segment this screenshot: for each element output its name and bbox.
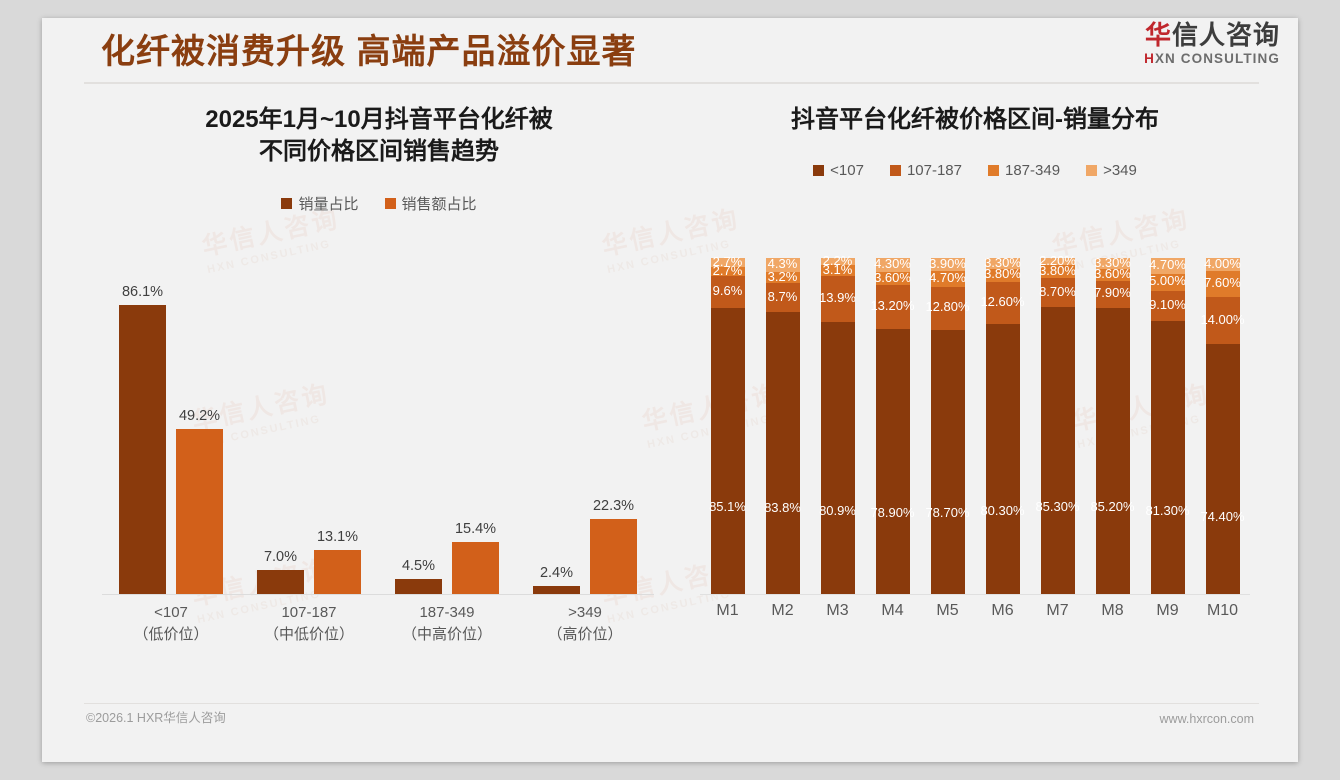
stacked-bar-segment[interactable]: 2.7% (711, 267, 745, 276)
bar-column: 4.30%3.60%13.20%78.90% (865, 258, 920, 594)
left-chart-x-labels: <107（低价位）107-187（中低价位）187-349（中高价位）>349（… (102, 602, 654, 646)
right-chart-panel: 抖音平台化纤被价格区间-销量分布 <107107-187187-349>349 … (690, 96, 1260, 666)
x-axis-label: M8 (1085, 602, 1140, 620)
bar-column: 3.90%4.70%12.80%78.70% (920, 258, 975, 594)
bar-value-label: 2.4% (540, 565, 573, 581)
bar-group: 86.1%49.2% (102, 258, 240, 594)
bar-group: 7.0%13.1% (240, 258, 378, 594)
segment-value-label: 5.00% (1149, 273, 1186, 288)
bar[interactable]: 22.3% (590, 519, 637, 594)
stacked-bar-segment[interactable]: 4.00% (1206, 258, 1240, 271)
left-chart-title: 2025年1月~10月抖音平台化纤被 不同价格区间销售趋势 (84, 96, 674, 167)
x-axis-label: M10 (1195, 602, 1250, 620)
bar-value-label: 7.0% (264, 549, 297, 565)
left-chart-legend: 销量占比销售额占比 (84, 193, 674, 214)
bar-column: 2.7%2.7%9.6%85.1% (700, 258, 755, 594)
x-axis-label: M5 (920, 602, 975, 620)
legend-item[interactable]: 107-187 (890, 162, 962, 179)
legend-label: 销量占比 (298, 193, 358, 214)
bar-column: 3.30%3.80%12.60%80.30% (975, 258, 1030, 594)
bar[interactable]: 4.5% (395, 579, 442, 594)
slide-root: 化纤被消费升级 高端产品溢价显著 华信人咨询 HXN CONSULTING 华信… (0, 0, 1340, 780)
bar-group: 4.5%15.4% (378, 258, 516, 594)
stacked-bar[interactable]: 3.30%3.60%7.90%85.20% (1096, 258, 1130, 594)
stacked-bar-segment[interactable]: 83.8% (766, 312, 800, 594)
segment-value-label: 80.30% (980, 503, 1024, 518)
bar-group: 2.4%22.3% (516, 258, 654, 594)
stacked-bar-segment[interactable]: 81.30% (1151, 321, 1185, 594)
footer-divider (84, 703, 1259, 704)
legend-item[interactable]: 销售额占比 (385, 193, 477, 214)
stacked-bar-segment[interactable]: 80.9% (821, 322, 855, 594)
legend-swatch-icon (385, 198, 396, 209)
legend-swatch-icon (1086, 165, 1097, 176)
right-chart-title: 抖音平台化纤被价格区间-销量分布 (690, 96, 1260, 136)
logo-chinese-red: 华 (1145, 20, 1172, 50)
logo-english: HXN CONSULTING (1144, 51, 1280, 66)
legend-item[interactable]: 销量占比 (281, 193, 358, 214)
x-axis-label: M9 (1140, 602, 1195, 620)
x-axis-label-main: 107-187 (240, 602, 378, 624)
x-axis-label: 107-187（中低价位） (240, 602, 378, 646)
segment-value-label: 78.70% (925, 505, 969, 520)
bar-column: 2.20%3.80%8.70%85.30% (1030, 258, 1085, 594)
bar[interactable]: 15.4% (452, 542, 499, 594)
logo-chinese-rest: 信人咨询 (1172, 20, 1280, 50)
stacked-bar-segment[interactable]: 14.00% (1206, 297, 1240, 344)
segment-value-label: 9.10% (1149, 297, 1186, 312)
x-axis-label-sub: （高价位） (516, 624, 654, 646)
company-logo: 华信人咨询 HXN CONSULTING (1144, 22, 1280, 66)
right-chart-axis-line (700, 594, 1250, 595)
x-axis-label: <107（低价位） (102, 602, 240, 646)
stacked-bar[interactable]: 3.30%3.80%12.60%80.30% (986, 258, 1020, 594)
legend-item[interactable]: <107 (813, 162, 864, 179)
legend-label: <107 (830, 162, 864, 179)
slide-card: 化纤被消费升级 高端产品溢价显著 华信人咨询 HXN CONSULTING 华信… (42, 18, 1298, 762)
x-axis-label: M4 (865, 602, 920, 620)
stacked-bar-segment[interactable]: 3.2% (766, 272, 800, 283)
legend-label: 销售额占比 (402, 193, 477, 214)
right-chart-bars: 2.7%2.7%9.6%85.1%4.3%3.2%8.7%83.8%2.2%3.… (700, 258, 1250, 594)
left-chart-title-line1: 2025年1月~10月抖音平台化纤被 (84, 104, 674, 136)
right-chart-legend: <107107-187187-349>349 (690, 162, 1260, 179)
segment-value-label: 7.60% (1204, 275, 1241, 290)
stacked-bar-segment[interactable]: 3.80% (986, 269, 1020, 282)
x-axis-label-main: >349 (516, 602, 654, 624)
x-axis-label-main: <107 (102, 602, 240, 624)
legend-swatch-icon (813, 165, 824, 176)
x-axis-label-sub: （中高价位） (378, 624, 516, 646)
stacked-bar-segment[interactable]: 78.70% (931, 330, 965, 594)
segment-value-label: 12.60% (980, 294, 1024, 309)
legend-swatch-icon (890, 165, 901, 176)
stacked-bar-segment[interactable]: 3.80% (1041, 265, 1075, 278)
segment-value-label: 14.00% (1200, 312, 1244, 327)
right-chart-x-labels: M1M2M3M4M5M6M7M8M9M10 (700, 602, 1250, 620)
logo-chinese: 华信人咨询 (1144, 22, 1280, 49)
page-title: 化纤被消费升级 高端产品溢价显著 (101, 24, 636, 73)
stacked-bar-segment[interactable]: 3.1% (821, 265, 855, 275)
segment-value-label: 12.80% (925, 299, 969, 314)
stacked-bar-segment[interactable]: 7.60% (1206, 271, 1240, 297)
slide-header: 化纤被消费升级 高端产品溢价显著 华信人咨询 HXN CONSULTING (42, 18, 1298, 90)
left-chart-title-line2: 不同价格区间销售趋势 (84, 136, 674, 168)
stacked-bar[interactable]: 2.20%3.80%8.70%85.30% (1041, 258, 1075, 594)
stacked-bar-segment[interactable]: 3.60% (876, 272, 910, 284)
segment-value-label: 85.20% (1090, 499, 1134, 514)
legend-item[interactable]: 187-349 (988, 162, 1060, 179)
stacked-bar-segment[interactable]: 12.80% (931, 287, 965, 330)
stacked-bar-segment[interactable]: 80.30% (986, 324, 1020, 594)
bar[interactable]: 86.1% (119, 305, 166, 594)
segment-value-label: 85.30% (1035, 499, 1079, 514)
stacked-bar-segment[interactable]: 9.6% (711, 276, 745, 308)
segment-value-label: 81.30% (1145, 503, 1189, 518)
stacked-bar[interactable]: 2.7%2.7%9.6%85.1% (711, 258, 745, 594)
stacked-bar[interactable]: 4.70%5.00%9.10%81.30% (1151, 258, 1185, 594)
bar-column: 3.30%3.60%7.90%85.20% (1085, 258, 1140, 594)
left-chart-panel: 2025年1月~10月抖音平台化纤被 不同价格区间销售趋势 销量占比销售额占比 … (84, 96, 674, 666)
segment-value-label: 85.1% (709, 499, 746, 514)
segment-value-label: 80.9% (819, 503, 856, 518)
x-axis-label-main: 187-349 (378, 602, 516, 624)
segment-value-label: 4.00% (1204, 256, 1241, 271)
bar[interactable]: 7.0% (257, 570, 304, 594)
stacked-bar-segment[interactable]: 8.7% (766, 283, 800, 312)
x-axis-label: M6 (975, 602, 1030, 620)
stacked-bar-segment[interactable]: 5.00% (1151, 274, 1185, 291)
segment-value-label: 8.7% (768, 289, 798, 304)
stacked-bar[interactable]: 4.00%7.60%14.00%74.40% (1206, 258, 1240, 594)
bar[interactable]: 13.1% (314, 550, 361, 594)
legend-label: >349 (1103, 162, 1137, 179)
segment-value-label: 3.2% (768, 269, 798, 284)
x-axis-label: M7 (1030, 602, 1085, 620)
segment-value-label: 13.9% (819, 290, 856, 305)
stacked-bar-segment[interactable]: 12.60% (986, 282, 1020, 324)
x-axis-label: M2 (755, 602, 810, 620)
stacked-bar-segment[interactable]: 13.20% (876, 285, 910, 329)
stacked-bar-segment[interactable]: 4.70% (1151, 258, 1185, 274)
stacked-bar-segment[interactable]: 8.70% (1041, 278, 1075, 307)
stacked-bar[interactable]: 4.30%3.60%13.20%78.90% (876, 258, 910, 594)
x-axis-label-sub: （中低价位） (240, 624, 378, 646)
segment-value-label: 83.8% (764, 500, 801, 515)
segment-value-label: 3.60% (1094, 266, 1131, 281)
stacked-bar-segment[interactable]: 3.60% (1096, 269, 1130, 281)
segment-value-label: 3.80% (984, 266, 1021, 281)
x-axis-label: M3 (810, 602, 865, 620)
bar-value-label: 13.1% (317, 529, 358, 545)
x-axis-label: M1 (700, 602, 755, 620)
bar-value-label: 86.1% (122, 284, 163, 300)
left-chart-axis-line (102, 594, 654, 595)
segment-value-label: 9.6% (713, 283, 743, 298)
bar-column: 4.3%3.2%8.7%83.8% (755, 258, 810, 594)
x-axis-label-sub: （低价位） (102, 624, 240, 646)
segment-value-label: 8.70% (1039, 284, 1076, 299)
x-axis-label: >349（高价位） (516, 602, 654, 646)
segment-value-label: 3.60% (874, 270, 911, 285)
segment-value-label: 4.70% (1149, 257, 1186, 272)
bar-value-label: 49.2% (179, 408, 220, 424)
segment-value-label: 3.90% (929, 256, 966, 271)
legend-swatch-icon (281, 198, 292, 209)
stacked-bar-segment[interactable]: 85.30% (1041, 307, 1075, 594)
stacked-bar-segment[interactable]: 13.9% (821, 276, 855, 323)
segment-value-label: 13.20% (870, 298, 914, 313)
bar-value-label: 22.3% (593, 498, 634, 514)
legend-label: 187-349 (1005, 162, 1060, 179)
segment-value-label: 3.80% (1039, 263, 1076, 278)
segment-value-label: 78.90% (870, 505, 914, 520)
bar-value-label: 15.4% (455, 521, 496, 537)
legend-swatch-icon (988, 165, 999, 176)
right-chart-plot-area: 2.7%2.7%9.6%85.1%4.3%3.2%8.7%83.8%2.2%3.… (690, 258, 1260, 658)
stacked-bar-segment[interactable]: 78.90% (876, 329, 910, 594)
stacked-bar[interactable]: 2.2%3.1%13.9%80.9% (821, 258, 855, 594)
bar[interactable]: 49.2% (176, 429, 223, 594)
legend-label: 107-187 (907, 162, 962, 179)
legend-item[interactable]: >349 (1086, 162, 1137, 179)
segment-value-label: 7.90% (1094, 285, 1131, 300)
segment-value-label: 3.1% (823, 262, 853, 277)
left-chart-plot-area: 86.1%49.2%7.0%13.1%4.5%15.4%2.4%22.3% <1… (84, 258, 674, 658)
bar[interactable]: 2.4% (533, 586, 580, 594)
footer-website: www.hxrcon.com (1160, 712, 1254, 726)
stacked-bar[interactable]: 3.90%4.70%12.80%78.70% (931, 258, 965, 594)
stacked-bar-segment[interactable]: 74.40% (1206, 344, 1240, 594)
left-chart-bars: 86.1%49.2%7.0%13.1%4.5%15.4%2.4%22.3% (102, 258, 654, 594)
header-divider (84, 82, 1259, 84)
logo-english-rest: XN CONSULTING (1155, 51, 1280, 66)
segment-value-label: 74.40% (1200, 509, 1244, 524)
stacked-bar-segment[interactable]: 4.70% (931, 271, 965, 287)
bar-column: 4.70%5.00%9.10%81.30% (1140, 258, 1195, 594)
bar-value-label: 4.5% (402, 558, 435, 574)
bar-column: 4.00%7.60%14.00%74.40% (1195, 258, 1250, 594)
stacked-bar-segment[interactable]: 7.90% (1096, 281, 1130, 308)
x-axis-label: 187-349（中高价位） (378, 602, 516, 646)
segment-value-label: 4.70% (929, 270, 966, 285)
footer-copyright: ©2026.1 HXR华信人咨询 (86, 707, 226, 726)
stacked-bar[interactable]: 4.3%3.2%8.7%83.8% (766, 258, 800, 594)
stacked-bar-segment[interactable]: 85.20% (1096, 308, 1130, 594)
bar-column: 2.2%3.1%13.9%80.9% (810, 258, 865, 594)
stacked-bar-segment[interactable]: 85.1% (711, 308, 745, 594)
logo-english-red: H (1144, 51, 1155, 66)
stacked-bar-segment[interactable]: 9.10% (1151, 291, 1185, 322)
